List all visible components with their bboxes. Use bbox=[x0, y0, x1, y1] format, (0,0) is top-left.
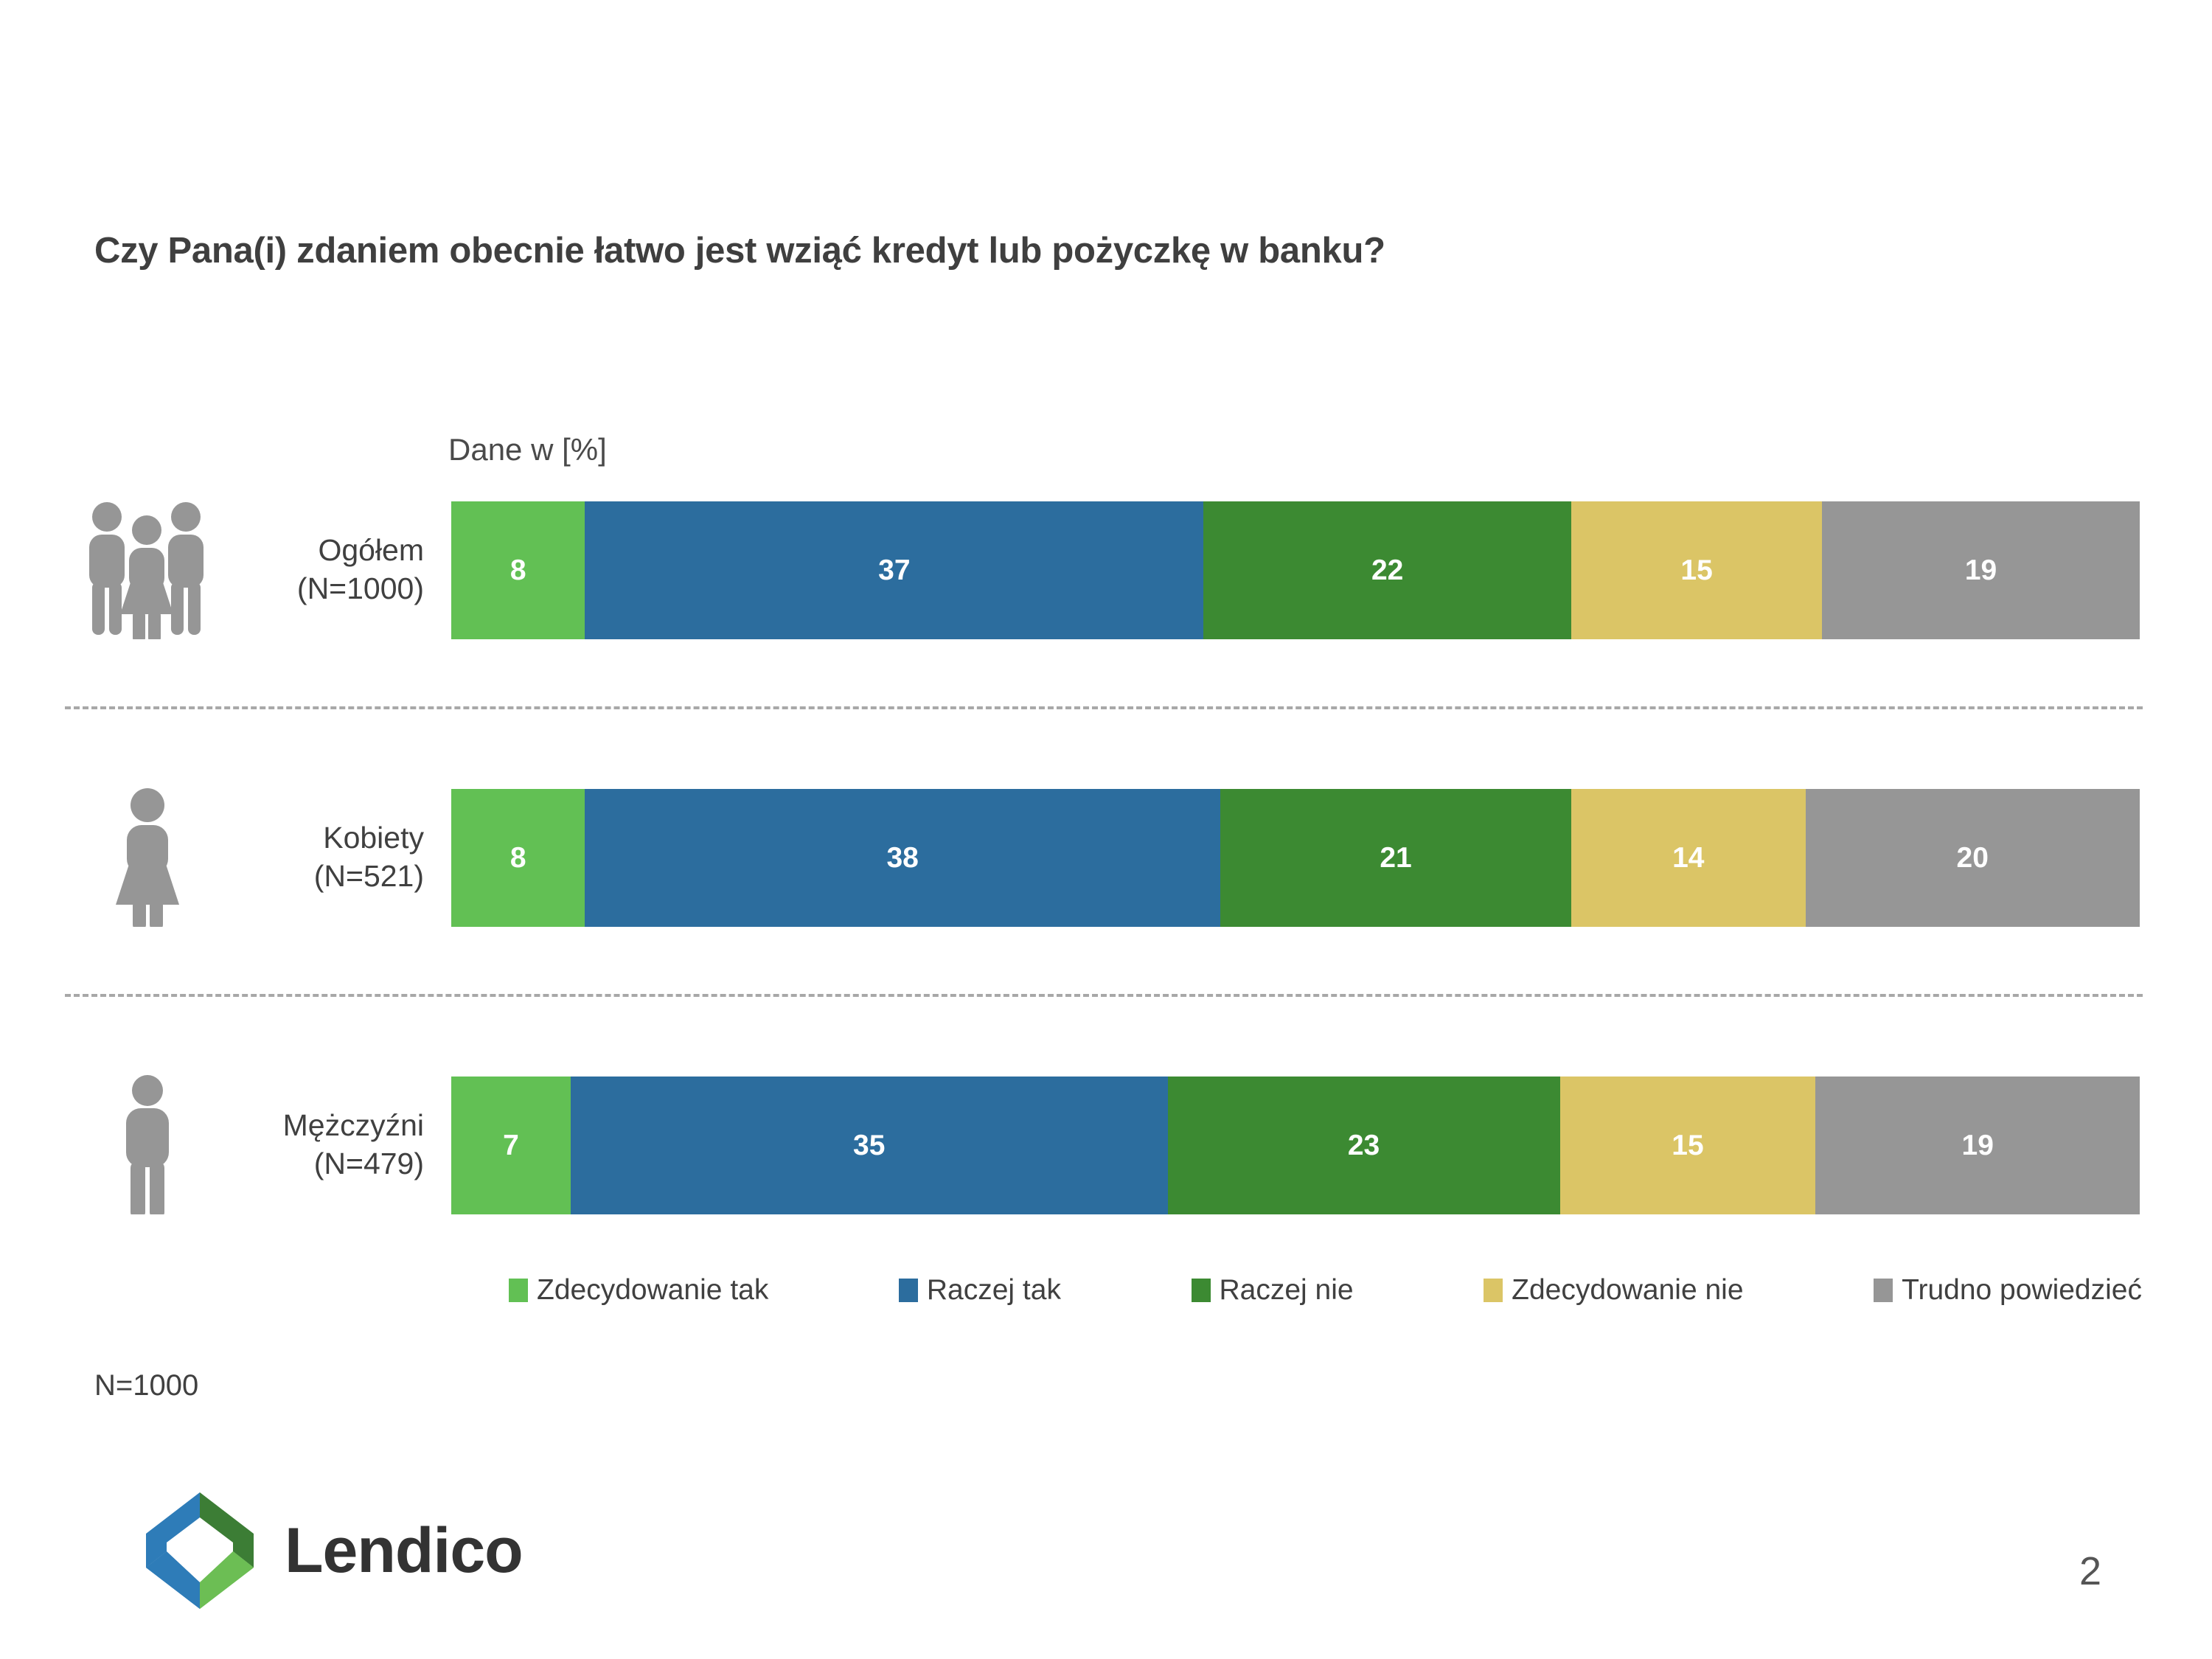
legend-swatch-trudno-powiedziec bbox=[1874, 1279, 1893, 1302]
legend-swatch-zdecydowanie-nie bbox=[1484, 1279, 1503, 1302]
row-label-line2: (N=521) bbox=[314, 857, 424, 895]
row-label-line2: (N=479) bbox=[314, 1144, 424, 1183]
row-category-label: Kobiety (N=521) bbox=[229, 768, 424, 945]
bar-segment-raczej-nie[interactable]: 22 bbox=[1203, 501, 1571, 639]
chart-row: Ogółem (N=1000) 8 37 22 15 19 bbox=[0, 481, 2212, 658]
stacked-bar: 7 35 23 15 19 bbox=[451, 1077, 2140, 1214]
stacked-bar: 8 38 21 14 20 bbox=[451, 789, 2140, 927]
row-category-label: Ogółem (N=1000) bbox=[229, 481, 424, 658]
legend-swatch-raczej-tak bbox=[899, 1279, 918, 1302]
legend-swatch-raczej-nie bbox=[1192, 1279, 1211, 1302]
bar-segment-zdecydowanie-tak[interactable]: 7 bbox=[451, 1077, 571, 1214]
stacked-bar: 8 37 22 15 19 bbox=[451, 501, 2140, 639]
legend-swatch-zdecydowanie-tak bbox=[509, 1279, 528, 1302]
bar-segment-trudno-powiedziec[interactable]: 19 bbox=[1822, 501, 2140, 639]
lendico-wordmark: Lendico bbox=[285, 1519, 523, 1582]
legend-item-raczej-tak[interactable]: Raczej tak bbox=[899, 1274, 1061, 1307]
chart-row: Kobiety (N=521) 8 38 21 14 20 bbox=[0, 768, 2212, 945]
row-label-line1: Ogółem bbox=[318, 531, 424, 569]
bar-segment-trudno-powiedziec[interactable]: 20 bbox=[1806, 789, 2140, 927]
page-number: 2 bbox=[2057, 1548, 2124, 1594]
man-icon bbox=[66, 1056, 229, 1233]
woman-icon bbox=[66, 768, 229, 945]
legend-item-zdecydowanie-nie[interactable]: Zdecydowanie nie bbox=[1484, 1274, 1743, 1307]
bar-segment-raczej-tak[interactable]: 37 bbox=[585, 501, 1203, 639]
bar-segment-raczej-tak[interactable]: 38 bbox=[585, 789, 1220, 927]
bar-segment-zdecydowanie-nie[interactable]: 14 bbox=[1571, 789, 1805, 927]
bar-segment-raczej-nie[interactable]: 23 bbox=[1168, 1077, 1560, 1214]
legend-label: Trudno powiedzieć bbox=[1902, 1274, 2142, 1307]
row-divider bbox=[65, 706, 2143, 709]
legend-label: Raczej nie bbox=[1220, 1274, 1354, 1307]
legend-label: Zdecydowanie tak bbox=[537, 1274, 768, 1307]
bar-segment-zdecydowanie-tak[interactable]: 8 bbox=[451, 789, 585, 927]
chart-legend: Zdecydowanie tak Raczej tak Raczej nie Z… bbox=[509, 1274, 2142, 1307]
legend-label: Raczej tak bbox=[927, 1274, 1061, 1307]
legend-item-zdecydowanie-tak[interactable]: Zdecydowanie tak bbox=[509, 1274, 768, 1307]
row-label-line1: Mężczyźni bbox=[283, 1106, 424, 1144]
sample-size-note: N=1000 bbox=[94, 1369, 198, 1402]
bar-segment-raczej-tak[interactable]: 35 bbox=[571, 1077, 1168, 1214]
bar-segment-zdecydowanie-tak[interactable]: 8 bbox=[451, 501, 585, 639]
bar-segment-trudno-powiedziec[interactable]: 19 bbox=[1815, 1077, 2139, 1214]
legend-label: Zdecydowanie nie bbox=[1512, 1274, 1743, 1307]
row-label-line1: Kobiety bbox=[323, 818, 424, 857]
legend-item-raczej-nie[interactable]: Raczej nie bbox=[1192, 1274, 1354, 1307]
group-people-icon bbox=[66, 481, 229, 658]
row-divider bbox=[65, 994, 2143, 997]
bar-segment-raczej-nie[interactable]: 21 bbox=[1220, 789, 1571, 927]
lendico-logo: Lendico bbox=[137, 1488, 523, 1613]
chart-row: Mężczyźni (N=479) 7 35 23 15 19 bbox=[0, 1056, 2212, 1233]
legend-item-trudno-powiedziec[interactable]: Trudno powiedzieć bbox=[1874, 1274, 2142, 1307]
bar-segment-zdecydowanie-nie[interactable]: 15 bbox=[1571, 501, 1822, 639]
stacked-bar-chart: Ogółem (N=1000) 8 37 22 15 19 bbox=[0, 0, 2212, 1659]
lendico-diamond-icon bbox=[137, 1488, 262, 1613]
row-category-label: Mężczyźni (N=479) bbox=[229, 1056, 424, 1233]
bar-segment-zdecydowanie-nie[interactable]: 15 bbox=[1560, 1077, 1816, 1214]
row-label-line2: (N=1000) bbox=[297, 569, 424, 608]
